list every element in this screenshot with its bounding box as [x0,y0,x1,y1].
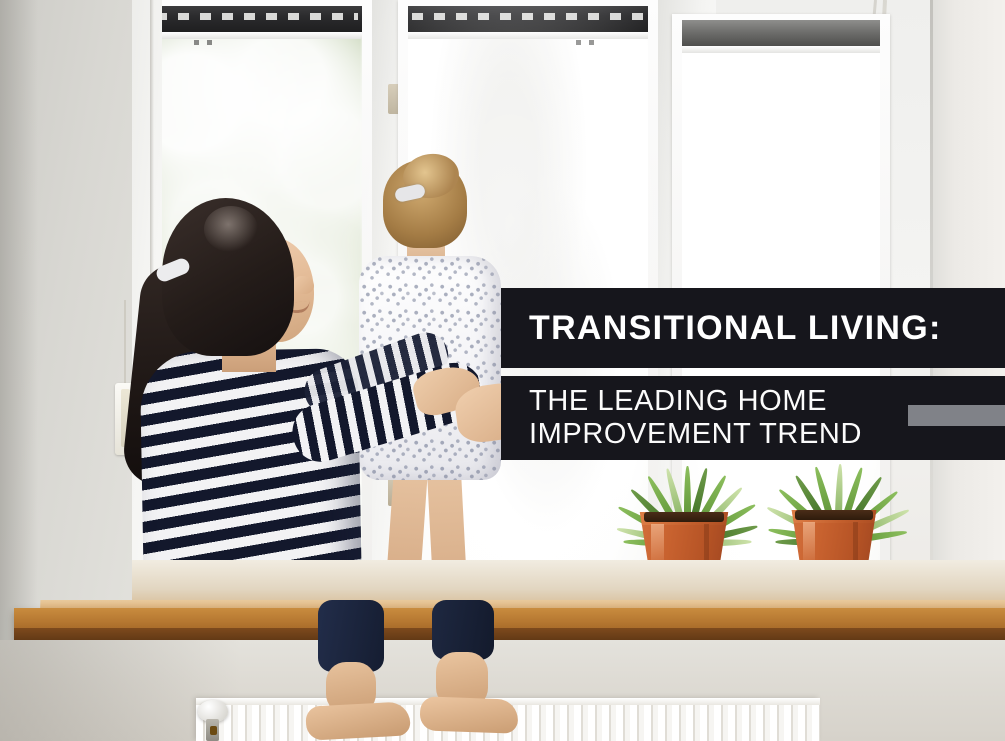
headline-title: TRANSITIONAL LIVING: [501,311,942,345]
headline-banner: TRANSITIONAL LIVING: [501,288,1005,368]
center-window-blind-box [408,6,648,32]
left-wall-shadow [0,0,38,648]
woman-hair-highlight [204,206,258,252]
radiator-valve [196,700,230,741]
radiator-valve-indicator [210,726,217,735]
center-window-sash-lip [408,32,648,39]
woman-nose [294,276,314,294]
woman-bare-foot-left [305,701,411,740]
right-window-sash-lip [682,46,880,53]
center-window-sash-screws [576,40,602,45]
left-window-sash-lip [152,32,362,39]
left-window-blind-box [152,6,362,32]
accent-swatch [908,405,1005,426]
blind-slats-icon [156,13,358,20]
promo-image-canvas: TRANSITIONAL LIVING: THE LEADING HOME IM… [0,0,1005,741]
woman-jeans-cuff-right [432,600,494,660]
right-window-blind-box [682,20,880,46]
woman-lower-legs-foreground [300,600,620,741]
woman-bare-foot-right [419,696,518,733]
headline-subtitle: THE LEADING HOME IMPROVEMENT TREND [501,385,862,451]
left-window-sash-screws [194,40,220,45]
pot-soil [644,512,725,522]
blind-slats-icon [412,13,644,20]
pot-soil [795,510,872,520]
